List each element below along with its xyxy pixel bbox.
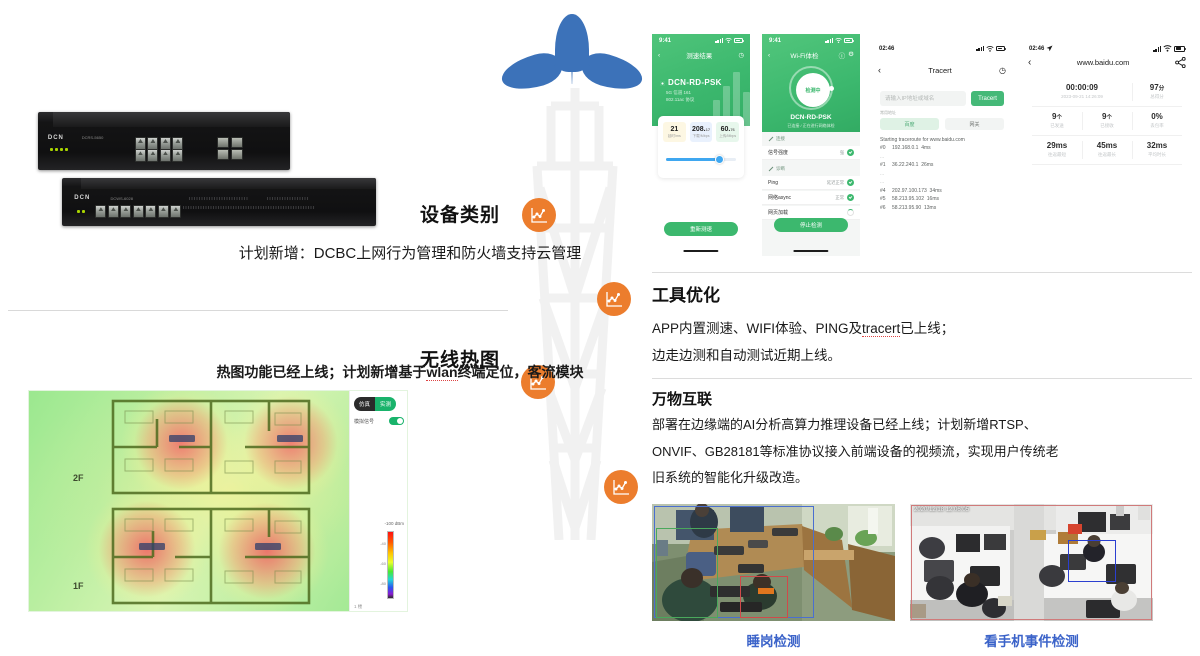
back-icon[interactable]: ‹	[658, 52, 660, 59]
speed-slider[interactable]	[666, 158, 736, 161]
floor-label-2f: 2F	[73, 473, 84, 483]
signal-petal-center-icon	[555, 14, 589, 72]
diagnose-row-signal: 信号强度 强	[762, 146, 860, 160]
home-indicator	[793, 250, 828, 253]
hop-ip: 58.213.95.102	[892, 196, 924, 202]
location-arrow-icon	[1046, 45, 1053, 52]
legend-tick-3: -80	[380, 581, 386, 586]
heatmap-mode-tabs[interactable]: 仿真 实测	[354, 397, 396, 411]
group-title-connection: 连接	[768, 136, 785, 142]
heatmap-control-panel: 仿真 实测 模拟信号 -100 dBm -40 -60 -80 1 楼	[349, 391, 407, 612]
switch-brand-logo-2: DCN	[74, 195, 90, 201]
wifi-icon	[986, 46, 994, 52]
iot-line-3: 旧系统的智能化升级改造。	[652, 465, 1197, 492]
phone-baidu-report: 02:46 ‹ www.baidu.com 00:00:09 2023-09-2…	[1022, 34, 1192, 256]
history-icon[interactable]: ◷	[999, 66, 1006, 75]
heatmap-desc-part-1: 热图功能已经上线；计划新增基于	[216, 364, 426, 380]
hop-index: #6	[880, 206, 892, 211]
tracert-run-button[interactable]: Tracert	[971, 91, 1004, 106]
sleep-detection-caption: 睡岗检测	[652, 630, 895, 650]
share-icon[interactable]	[1175, 57, 1186, 68]
left-section-divider	[8, 310, 508, 311]
slide-canvas: DCN DCRS-5650	[0, 0, 1200, 656]
battery-icon	[734, 38, 743, 43]
metric-sent-label: 已发送	[1032, 123, 1082, 129]
switch-model-text: DCRS-5650	[82, 135, 104, 140]
battery-icon	[996, 46, 1005, 51]
check-icon	[847, 179, 854, 186]
stat-latency: 21 延时/ms	[663, 122, 686, 142]
diagnose-ring-dot-icon	[829, 86, 834, 91]
cellular-signal-icon	[825, 38, 833, 43]
wlan-heatmap-screenshot: 2F 1F 仿真 实测 模拟信号 -100 dBm -40 -60 -80 1 …	[28, 390, 408, 612]
bbox-person-2	[656, 528, 718, 618]
metric-rtt-max-label: 往返最长	[1082, 152, 1132, 158]
cellular-signal-icon	[1153, 46, 1161, 52]
ssid-label: DCN-RD-PSK	[762, 114, 860, 121]
signal-legend-colorbar	[387, 531, 394, 599]
row-label: 网络async	[768, 194, 791, 201]
row-value: 强	[840, 150, 844, 156]
wireless-tower-illustration	[495, 0, 655, 540]
device-category-description: 计划新增：DCBC上网行为管理和防火墙支持云管理	[140, 242, 680, 263]
hop-index: #4	[880, 189, 892, 194]
hop-placeholder: ...	[880, 172, 1006, 177]
hop-index: #0	[880, 146, 892, 151]
tracert-output-header: Starting traceroute for www.baidu.com	[880, 138, 1006, 143]
row-label: 网页加载	[768, 209, 788, 216]
status-icons	[976, 46, 1005, 52]
device-category-heading: 设备类别	[420, 200, 500, 227]
table-row: 9个 已发送 9个 已接收 0% 丢包率	[1032, 107, 1182, 136]
check-icon	[847, 149, 854, 156]
diagnose-ring-text: 检测中	[796, 73, 830, 107]
report-metrics-table: 00:00:09 2023-09-21 14:26:09 97分 总得分 9个 …	[1032, 78, 1182, 165]
stat-latency-label: 延时/ms	[663, 134, 686, 139]
status-icons	[825, 38, 853, 43]
speed-slider-knob[interactable]	[715, 155, 724, 164]
right-section-divider-1	[652, 272, 1192, 273]
iot-body: 部署在边缘端的AI分析高算力推理设备已经上线；计划新增RTSP、 ONVIF、G…	[652, 412, 1197, 492]
right-section-divider-2	[652, 378, 1192, 379]
phone-wifi-diagnose: 9:41 ‹ Wi-Fi体检 ⓘ ⚙ 检测中 DCN-RD-PSK	[762, 34, 860, 256]
stat-upload: 60.76 上传/Mbps	[716, 122, 739, 142]
nav-bar: ‹ Wi-Fi体检 ⓘ ⚙	[762, 48, 860, 62]
hop-rtt: 16ms	[927, 196, 939, 202]
sim-signal-label: 模拟信号	[354, 418, 374, 425]
hop-rtt: 26ms	[921, 162, 933, 168]
rack-switch-photo-bottom: DCN DCWS-6028	[62, 178, 376, 226]
row-label: Ping	[768, 180, 778, 186]
wireless-heatmap-description: 热图功能已经上线；计划新增基于wlan终端定位，客流模块	[120, 362, 680, 382]
status-time: 9:41	[769, 38, 781, 44]
metric-sent-value: 9个	[1032, 112, 1082, 121]
phone-use-detection-photo: 2020/12/18 12:06:05	[910, 504, 1153, 621]
hop-rtt: 4ms	[921, 145, 930, 151]
metric-score-value: 97分	[1132, 83, 1182, 92]
tools-line-1: APP内置测速、WIFI体验、PING及tracert已上线；	[652, 315, 1197, 342]
heatmap-tab-measured[interactable]: 实测	[375, 397, 396, 411]
bbox-phone-user	[1068, 540, 1116, 582]
common-address-label: 常用地址	[880, 110, 896, 116]
status-time: 9:41	[659, 38, 671, 44]
tools-body: APP内置测速、WIFI体验、PING及tracert已上线； 边走边测和自动测…	[652, 315, 1197, 369]
row-value-wrap: 强	[840, 149, 854, 156]
back-icon[interactable]: ‹	[878, 65, 881, 75]
battery-icon	[1174, 46, 1185, 52]
stat-download: 208.17 下载/Mbps	[690, 122, 713, 142]
back-icon[interactable]: ‹	[1028, 57, 1031, 68]
status-time: 02:46	[1029, 46, 1044, 52]
sim-signal-toggle[interactable]	[389, 417, 404, 425]
status-time: 02:46	[879, 46, 894, 52]
metric-sent: 9个 已发送	[1032, 107, 1082, 135]
chip-baidu[interactable]: 百度	[880, 118, 939, 130]
stat-download-value: 208.17	[690, 126, 713, 133]
speed-slider-fill	[666, 158, 716, 161]
ssid-sub-label: 已连接 / 正在进行网络体检	[762, 123, 860, 129]
ssid-sub-1: 5G 信道 161	[666, 90, 691, 96]
wifi-icon	[835, 38, 842, 43]
phone-use-detection-caption: 看手机事件检测	[910, 630, 1153, 650]
row-label: 信号强度	[768, 149, 788, 156]
iot-line-1: 部署在边缘端的AI分析高算力推理设备已经上线；计划新增RTSP、	[652, 412, 1197, 439]
check-icon	[847, 194, 854, 201]
metric-rtt-min-value: 29ms	[1032, 141, 1082, 150]
analytics-node-icon-4	[604, 470, 638, 504]
speedtest-result-card: 21 延时/ms 208.17 下载/Mbps 60.76 上传/Mbps	[658, 116, 744, 178]
metric-rtt-avg-label: 平均时长	[1132, 152, 1182, 158]
heatmap-footer-label: 1 楼	[354, 604, 362, 610]
history-icon[interactable]: ◷	[738, 51, 744, 59]
sleep-detection-photo	[652, 504, 895, 621]
table-row: 29ms 往返最短 45ms 往返最长 32ms 平均时长	[1032, 136, 1182, 165]
row-value: 正常	[835, 195, 844, 201]
help-icon[interactable]: ⓘ	[839, 50, 846, 60]
gear-icon[interactable]: ⚙	[848, 50, 854, 60]
heatmap-desc-part-3: 终端定位，客流模块	[458, 364, 584, 380]
hop-placeholder: ...	[880, 155, 1006, 160]
phone-speedtest: 9:41 ‹ 测速结果 ◷ DCN-RD-PSK 5G 信道 161 802.1…	[652, 34, 750, 256]
tracert-target-input[interactable]	[880, 91, 966, 106]
row-value-wrap: 延迟正常	[827, 179, 854, 186]
metric-rtt-max-value: 45ms	[1082, 141, 1132, 150]
status-icons	[715, 38, 743, 43]
hop-rtt: 13ms	[924, 205, 936, 211]
metric-rtt-avg: 32ms 平均时长	[1132, 136, 1182, 164]
stop-detection-button[interactable]: 停止检测	[774, 218, 848, 232]
stat-latency-value: 21	[663, 126, 686, 133]
metric-loss: 0% 丢包率	[1132, 107, 1182, 135]
status-bar: 02:46	[872, 42, 1012, 55]
battery-icon	[844, 38, 853, 43]
nav-title: 测速结果	[686, 50, 712, 60]
tracert-output: Starting traceroute for www.baidu.com #0…	[880, 138, 1006, 214]
hop-rtt: 34ms	[930, 188, 942, 194]
legend-tick-1: -40	[380, 541, 386, 546]
wrench-icon	[768, 166, 774, 172]
stat-upload-label: 上传/Mbps	[716, 134, 739, 139]
row-value: 延迟正常	[827, 180, 844, 186]
table-row: 00:00:09 2023-09-21 14:26:09 97分 总得分	[1032, 78, 1182, 107]
ssid-label: DCN-RD-PSK	[668, 78, 722, 87]
switch-model-text-2: DCWS-6028	[110, 196, 132, 201]
common-address-chips: 百度 网关	[880, 118, 1004, 130]
nav-bar: ‹ www.baidu.com	[1022, 54, 1192, 70]
hop-ip: 192.168.0.1	[892, 145, 918, 151]
hop-index: #5	[880, 197, 892, 202]
sim-signal-row: 模拟信号	[354, 417, 404, 425]
legend-tick-2: -60	[380, 561, 386, 566]
analytics-node-icon-2	[597, 282, 631, 316]
bbox-sleeping-person	[740, 576, 788, 618]
metric-duration: 00:00:09 2023-09-21 14:26:09	[1032, 78, 1132, 106]
diagnose-progress-ring: 检测中	[789, 66, 833, 110]
switch-brand-logo: DCN	[48, 135, 64, 141]
cellular-signal-icon	[715, 38, 723, 43]
heatmap-tab-simulated[interactable]: 仿真	[354, 397, 375, 411]
analytics-node-icon-1	[522, 198, 556, 232]
wifi-icon	[725, 38, 732, 43]
metric-loss-label: 丢包率	[1132, 123, 1182, 129]
speedtest-header: 9:41 ‹ 测速结果 ◷ DCN-RD-PSK 5G 信道 161 802.1…	[652, 34, 750, 126]
status-icons	[1153, 45, 1185, 52]
metric-duration-timestamp: 2023-09-21 14:26:09	[1032, 94, 1132, 99]
metric-received: 9个 已接收	[1082, 107, 1132, 135]
legend-max-label: -100 dBm	[384, 521, 404, 526]
metric-rtt-min: 29ms 往返最短	[1032, 136, 1082, 164]
iot-line-2: ONVIF、GB28181等标准协议接入前端设备的视频流，实现用户传统老	[652, 439, 1197, 466]
stat-download-label: 下载/Mbps	[690, 134, 713, 139]
status-bar: 9:41	[652, 34, 750, 47]
speedtest-stats: 21 延时/ms 208.17 下载/Mbps 60.76 上传/Mbps	[663, 122, 739, 142]
tools-heading: 工具优化	[652, 281, 720, 306]
metric-rtt-min-label: 往返最短	[1032, 152, 1082, 158]
metric-rtt-avg-value: 32ms	[1132, 141, 1182, 150]
hop-index: #1	[880, 163, 892, 168]
phone-tracert: 02:46 ‹ Tracert ◷ Tracert 常用地址 百度 网关 Sta…	[872, 34, 1012, 256]
loading-spinner-icon	[847, 209, 854, 216]
ssid-sub-2: 802.11ac 协议	[666, 97, 694, 103]
nav-title: Tracert	[928, 66, 951, 75]
hop-ip: 58.213.95.90	[892, 205, 921, 211]
nav-bar: ‹ 测速结果 ◷	[652, 48, 750, 62]
diagnose-row-ping: Ping 延迟正常	[762, 176, 860, 190]
tools-line-2: 边走边测和自动测试近期上线。	[652, 342, 1197, 369]
floor-label-1f: 1F	[73, 581, 84, 591]
iot-heading: 万物互联	[652, 388, 712, 409]
back-icon[interactable]: ‹	[768, 52, 770, 59]
wifi-diagnose-header: 9:41 ‹ Wi-Fi体检 ⓘ ⚙ 检测中 DCN-RD-PSK	[762, 34, 860, 132]
stat-upload-value: 60.76	[716, 126, 739, 133]
group-title-diagnose: 诊断	[768, 166, 785, 172]
metric-received-value: 9个	[1082, 112, 1132, 121]
metric-received-label: 已接收	[1082, 123, 1132, 129]
nav-bar: ‹ Tracert ◷	[872, 62, 1012, 78]
metric-rtt-max: 45ms 往返最长	[1082, 136, 1132, 164]
page-url-title: www.baidu.com	[1077, 58, 1130, 67]
link-icon	[768, 136, 774, 142]
home-indicator	[683, 250, 718, 253]
diagnose-row-network: 网络async 正常	[762, 191, 860, 205]
heatmap-desc-underlined: wlan	[426, 364, 457, 381]
metric-loss-value: 0%	[1132, 112, 1182, 121]
nav-actions: ⓘ ⚙	[839, 50, 854, 60]
nav-title: Wi-Fi体检	[790, 50, 818, 60]
rack-switch-photo-top: DCN DCRS-5650	[38, 112, 290, 170]
chip-gateway[interactable]: 网关	[945, 118, 1004, 130]
cellular-signal-icon	[976, 46, 984, 52]
status-bar: 9:41	[762, 34, 860, 47]
ssid-dot-icon	[660, 81, 665, 86]
hop-ip: 202.97.100.173	[892, 188, 927, 194]
metric-score-label: 总得分	[1132, 94, 1182, 100]
row-value-wrap: 正常	[835, 194, 854, 201]
metric-duration-value: 00:00:09	[1032, 83, 1132, 92]
metric-score: 97分 总得分	[1132, 78, 1182, 106]
hop-placeholder: ...	[880, 180, 1006, 185]
row-value-wrap	[847, 209, 854, 216]
tracert-term: tracert	[862, 321, 900, 337]
wifi-icon	[1163, 45, 1172, 52]
retest-button[interactable]: 重新测速	[664, 222, 738, 236]
hop-ip: 36.22.240.1	[892, 162, 918, 168]
